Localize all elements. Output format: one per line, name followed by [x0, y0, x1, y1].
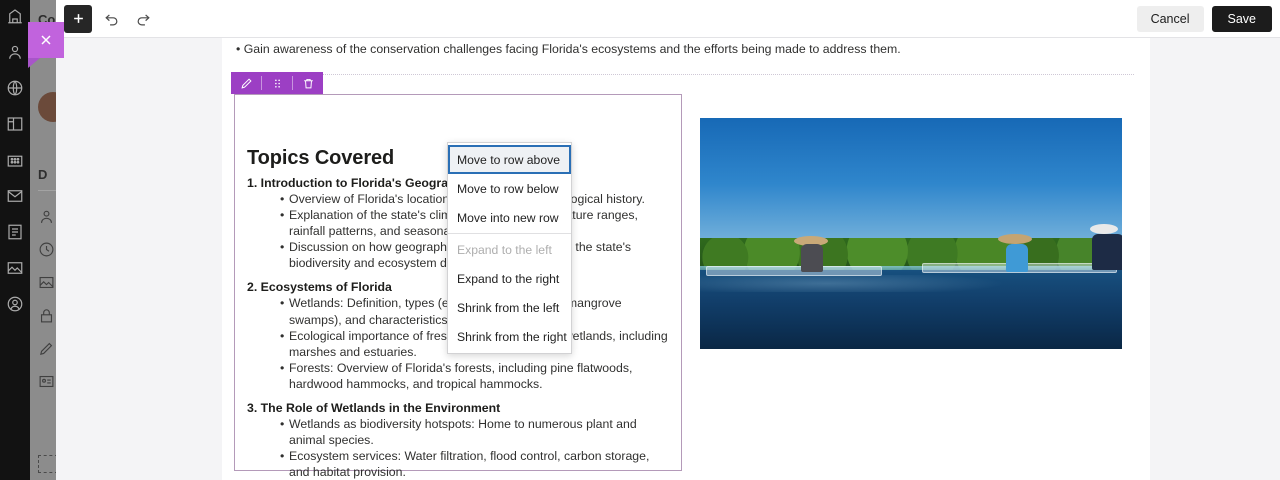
image-icon	[38, 274, 56, 292]
menu-item-shrink-from-the-left[interactable]: Shrink from the left	[448, 293, 571, 322]
close-editor-button[interactable]	[28, 22, 64, 58]
section-bullets: Wetlands as biodiversity hotspots: Home …	[247, 416, 669, 480]
photo-body	[801, 244, 823, 272]
block-context-menu[interactable]: Move to row above Move to row below Move…	[447, 142, 572, 354]
building-icon	[5, 6, 25, 26]
person-icon	[5, 42, 25, 62]
plus-icon	[71, 11, 86, 26]
window-icon	[5, 114, 25, 134]
photo-person-right	[1086, 224, 1122, 270]
photo-water	[700, 270, 1122, 349]
photo-person-left	[796, 236, 828, 270]
kayakers-mangrove-photo[interactable]	[700, 118, 1122, 349]
row-divider	[238, 74, 1134, 75]
save-button[interactable]: Save	[1212, 6, 1273, 32]
photo-body	[1006, 244, 1028, 272]
list-item: Forests: Overview of Florida's forests, …	[281, 360, 669, 392]
menu-separator	[448, 233, 571, 234]
edit-block-button[interactable]	[231, 72, 261, 94]
photo-kayak-left	[706, 266, 882, 276]
list-icon	[5, 222, 25, 242]
photo-hat	[1090, 224, 1118, 234]
photo-body	[1092, 234, 1122, 270]
close-x-icon	[38, 32, 54, 48]
person-circle-icon	[5, 294, 25, 314]
pen-icon	[38, 340, 56, 358]
redo-arrow-icon	[135, 10, 152, 27]
close-flag-tail	[28, 58, 40, 68]
person-icon	[38, 208, 56, 226]
editor-canvas: · Appreciate the ecological importance o…	[56, 38, 1280, 480]
dashed-placeholder	[38, 455, 58, 473]
grid-icon	[5, 150, 25, 170]
redo-button[interactable]	[130, 6, 156, 32]
drag-grid-icon	[271, 77, 284, 90]
id-card-icon	[38, 373, 56, 391]
add-block-button[interactable]	[64, 5, 92, 33]
toolbar-right-group: Cancel Save	[1137, 6, 1272, 32]
list-item: Wetlands as biodiversity hotspots: Home …	[281, 416, 669, 448]
lock-icon	[38, 307, 56, 325]
move-block-button[interactable]	[262, 72, 292, 94]
clock-icon	[38, 241, 56, 259]
globe-icon	[5, 78, 25, 98]
trash-icon	[302, 77, 315, 90]
toolbar-left-group	[64, 5, 156, 33]
photo-person-middle	[1000, 234, 1032, 270]
background-panel-section-label: D	[38, 167, 47, 182]
mail-icon	[5, 186, 25, 206]
undo-button[interactable]	[98, 6, 124, 32]
block-action-toolbar	[231, 72, 323, 94]
app-root: Co D	[0, 0, 1280, 480]
list-item: Ecosystem services: Water filtration, fl…	[281, 448, 669, 480]
menu-item-expand-to-the-right[interactable]: Expand to the right	[448, 264, 571, 293]
photo-hat	[998, 234, 1032, 244]
page-title: Topics Covered	[247, 147, 394, 170]
cancel-button[interactable]: Cancel	[1137, 6, 1204, 32]
menu-item-move-to-row-below[interactable]: Move to row below	[448, 174, 571, 203]
section-title: 3. The Role of Wetlands in the Environme…	[247, 400, 669, 416]
editor-toolbar: Cancel Save	[56, 0, 1280, 38]
menu-item-shrink-from-the-right[interactable]: Shrink from the right	[448, 322, 571, 351]
image-icon	[5, 258, 25, 278]
pencil-icon	[240, 77, 253, 90]
editor-shell: Cancel Save · Appreciate the ecological …	[56, 0, 1280, 480]
document-top-bullet: • Gain awareness of the conservation cha…	[236, 42, 1126, 56]
menu-item-move-to-row-above[interactable]: Move to row above	[448, 145, 571, 174]
background-app-rail	[0, 0, 30, 480]
undo-arrow-icon	[103, 10, 120, 27]
delete-block-button[interactable]	[293, 72, 323, 94]
document-page: · Appreciate the ecological importance o…	[222, 38, 1150, 480]
menu-item-move-into-new-row[interactable]: Move into new row	[448, 203, 571, 232]
menu-item-expand-to-the-left: Expand to the left	[448, 235, 571, 264]
